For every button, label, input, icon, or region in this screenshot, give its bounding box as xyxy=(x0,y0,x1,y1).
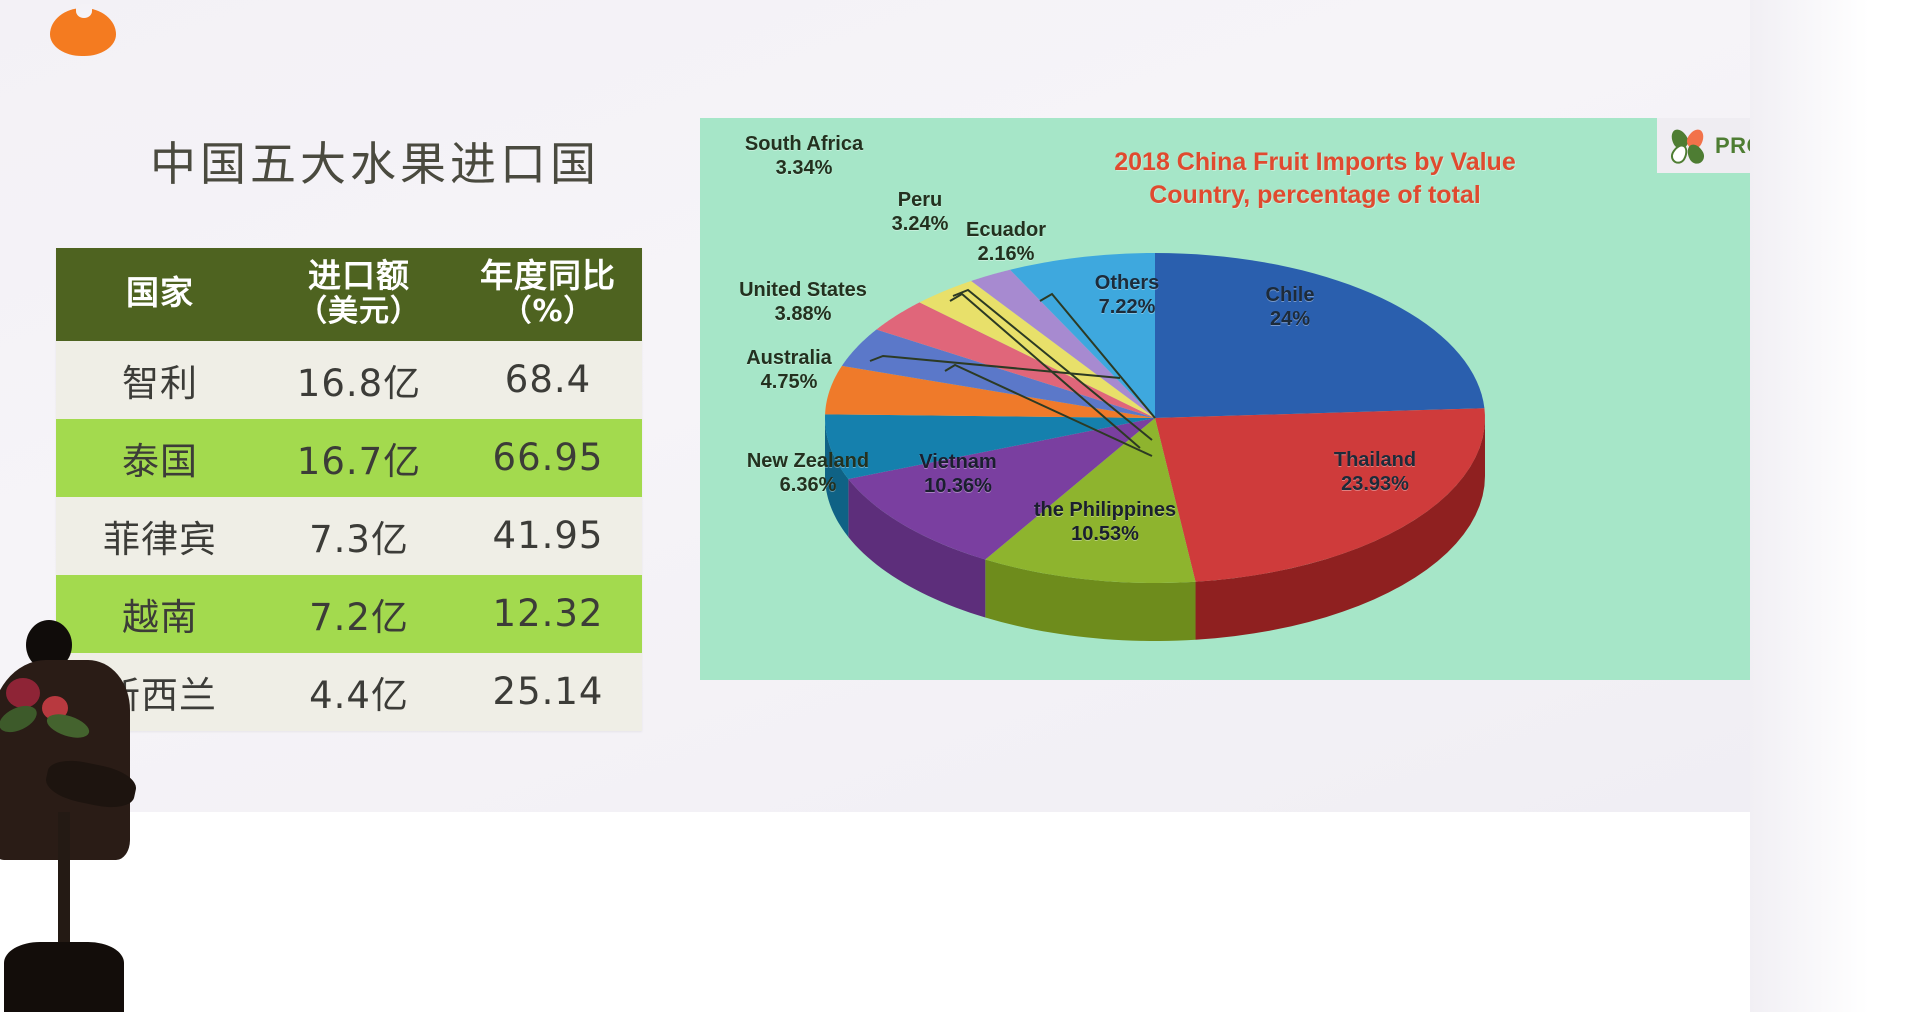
cell-pct: 41.95 xyxy=(454,497,642,575)
slice-label-thailand: Thailand 23.93% xyxy=(1290,448,1460,497)
pie-chart: South Africa 3.34% Peru 3.24% Ecuador 2.… xyxy=(700,118,1915,680)
cell-country: 泰国 xyxy=(56,419,264,497)
cell-value: 4.4亿 xyxy=(264,653,454,731)
cell-pct: 25.14 xyxy=(454,653,642,731)
callout-australia-pct: 4.75% xyxy=(704,370,874,394)
cell-value: 7.3亿 xyxy=(264,497,454,575)
page-title: 中国五大水果进口国 xyxy=(150,128,600,194)
callout-new-zealand-pct: 6.36% xyxy=(738,473,878,497)
slice-label-chile-pct: 24% xyxy=(1225,307,1355,331)
cell-pct: 68.4 xyxy=(454,341,642,419)
table-row: 智利 16.8亿 68.4 xyxy=(56,341,642,419)
apple-icon xyxy=(50,0,122,60)
slice-label-philippines-name: the Philippines xyxy=(1000,498,1210,522)
slice-label-chile: Chile 24% xyxy=(1225,283,1355,332)
column-header-yoy-sub: （%） xyxy=(458,295,638,329)
callout-united-states-pct: 3.88% xyxy=(698,302,908,326)
table-header: 国家 进口额 （美元） 年度同比 （%） xyxy=(56,248,642,341)
column-header-yoy-main: 年度同比 xyxy=(480,256,616,295)
callout-new-zealand-name: New Zealand xyxy=(738,450,878,473)
pie-slice-chile xyxy=(1155,253,1484,418)
column-header-value: 进口额 （美元） xyxy=(264,248,454,341)
column-header-country-main: 国家 xyxy=(126,273,194,312)
cell-country: 智利 xyxy=(56,341,264,419)
slice-label-chile-name: Chile xyxy=(1225,283,1355,307)
table-row: 菲律宾 7.3亿 41.95 xyxy=(56,497,642,575)
callout-new-zealand: New Zealand 6.36% xyxy=(738,450,878,498)
callout-ecuador-pct: 2.16% xyxy=(936,242,1076,266)
callout-south-africa: South Africa 3.34% xyxy=(704,132,904,181)
cell-country: 新西兰 xyxy=(56,653,264,731)
cell-value: 7.2亿 xyxy=(264,575,454,653)
slice-label-philippines: the Philippines 10.53% xyxy=(1000,498,1210,547)
wall-right-edge xyxy=(1750,0,1920,1012)
table-row: 越南 7.2亿 12.32 xyxy=(56,575,642,653)
column-header-yoy: 年度同比 （%） xyxy=(454,248,642,341)
wall-below-screen xyxy=(0,812,1920,1012)
presentation-slide: 中国五大水果进口国 国家 进口额 （美元） 年度同比 （%） xyxy=(0,0,1920,1012)
callout-australia: Australia 4.75% xyxy=(704,346,874,395)
cell-country: 越南 xyxy=(56,575,264,653)
column-header-country: 国家 xyxy=(56,248,264,341)
slice-label-others-pct: 7.22% xyxy=(1062,295,1192,319)
table-header-row: 国家 进口额 （美元） 年度同比 （%） xyxy=(56,248,642,341)
slice-label-thailand-pct: 23.93% xyxy=(1290,472,1460,496)
callout-australia-name: Australia xyxy=(704,346,874,370)
slice-label-vietnam-name: Vietnam xyxy=(878,450,1038,474)
slice-label-others: Others 7.22% xyxy=(1062,271,1192,320)
table-row: 新西兰 4.4亿 25.14 xyxy=(56,653,642,731)
column-header-value-sub: （美元） xyxy=(268,295,450,329)
cell-value: 16.7亿 xyxy=(264,419,454,497)
slice-label-others-name: Others xyxy=(1062,271,1192,295)
callout-south-africa-pct: 3.34% xyxy=(704,156,904,180)
table-body: 智利 16.8亿 68.4 泰国 16.7亿 66.95 菲律宾 7.3亿 41… xyxy=(56,341,642,731)
cell-pct: 66.95 xyxy=(454,419,642,497)
cell-value: 16.8亿 xyxy=(264,341,454,419)
column-header-value-main: 进口额 xyxy=(308,256,410,295)
slice-label-vietnam-pct: 10.36% xyxy=(878,474,1038,498)
cell-pct: 12.32 xyxy=(454,575,642,653)
slice-label-vietnam: Vietnam 10.36% xyxy=(878,450,1038,499)
pie-chart-panel: 2018 China Fruit Imports by Value Countr… xyxy=(700,118,1915,680)
callout-peru-name: Peru xyxy=(860,188,980,212)
slice-label-philippines-pct: 10.53% xyxy=(1000,522,1210,546)
callout-ecuador-name: Ecuador xyxy=(936,218,1076,242)
slice-label-thailand-name: Thailand xyxy=(1290,448,1460,472)
apple-notch xyxy=(76,4,92,18)
callout-ecuador: Ecuador 2.16% xyxy=(936,218,1076,267)
table-row: 泰国 16.7亿 66.95 xyxy=(56,419,642,497)
cell-country: 菲律宾 xyxy=(56,497,264,575)
callout-south-africa-name: South Africa xyxy=(704,132,904,156)
callout-united-states-name: United States xyxy=(698,278,908,302)
imports-table: 国家 进口额 （美元） 年度同比 （%） 智利 16.8亿 68.4 泰国 xyxy=(56,248,642,731)
callout-united-states: United States 3.88% xyxy=(698,278,908,327)
